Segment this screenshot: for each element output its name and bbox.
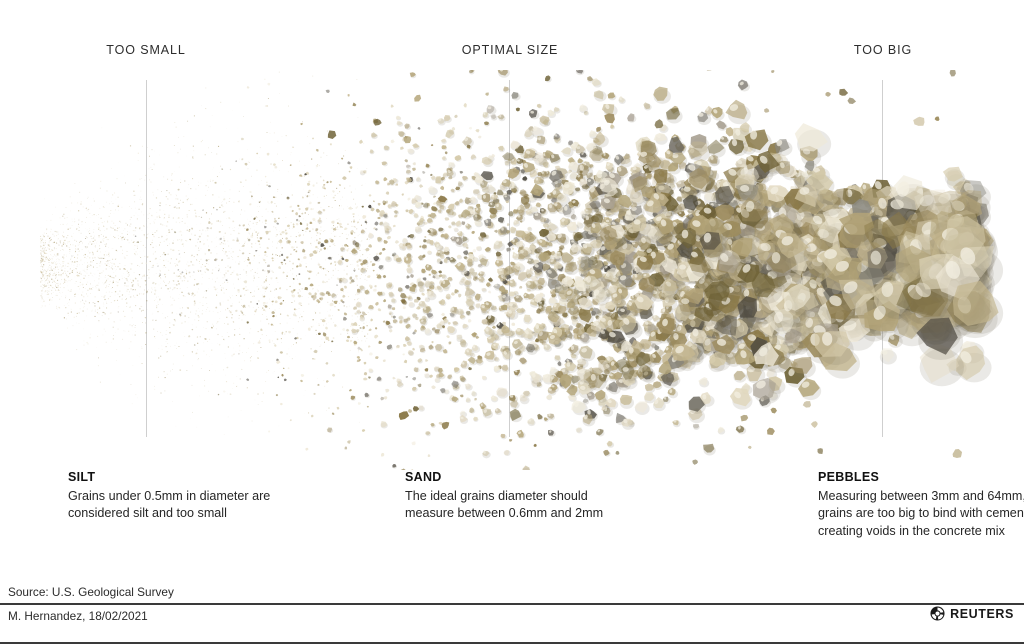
footer-divider-rule xyxy=(0,603,1024,605)
reuters-orbit-icon xyxy=(930,606,945,621)
infographic-page: TOO SMALL OPTIMAL SIZE TOO BIG SILT Grai… xyxy=(0,0,1024,644)
author-credit: M. Hernandez, 18/02/2021 xyxy=(8,609,148,623)
caption-silt: SILT Grains under 0.5mm in diameter are … xyxy=(68,470,283,523)
zone-label-too-small: TOO SMALL xyxy=(106,43,185,57)
caption-pebbles: PEBBLES Measuring between 3mm and 64mm, … xyxy=(818,470,1024,540)
reuters-brand: REUTERS xyxy=(930,606,1014,621)
caption-silt-title: SILT xyxy=(68,470,283,485)
grain-size-scatter-plot xyxy=(0,70,1024,470)
zone-label-optimal-size: OPTIMAL SIZE xyxy=(462,43,558,57)
source-attribution: Source: U.S. Geological Survey xyxy=(8,585,174,599)
caption-sand-title: SAND xyxy=(405,470,620,485)
caption-silt-body: Grains under 0.5mm in diameter are consi… xyxy=(68,488,283,523)
grain-cloud-canvas xyxy=(0,70,1024,470)
caption-sand: SAND The ideal grains diameter should me… xyxy=(405,470,620,523)
caption-pebbles-title: PEBBLES xyxy=(818,470,1024,485)
caption-pebbles-body: Measuring between 3mm and 64mm, the grai… xyxy=(818,488,1024,540)
reuters-wordmark: REUTERS xyxy=(950,607,1014,621)
caption-sand-body: The ideal grains diameter should measure… xyxy=(405,488,620,523)
zone-label-too-big: TOO BIG xyxy=(854,43,912,57)
